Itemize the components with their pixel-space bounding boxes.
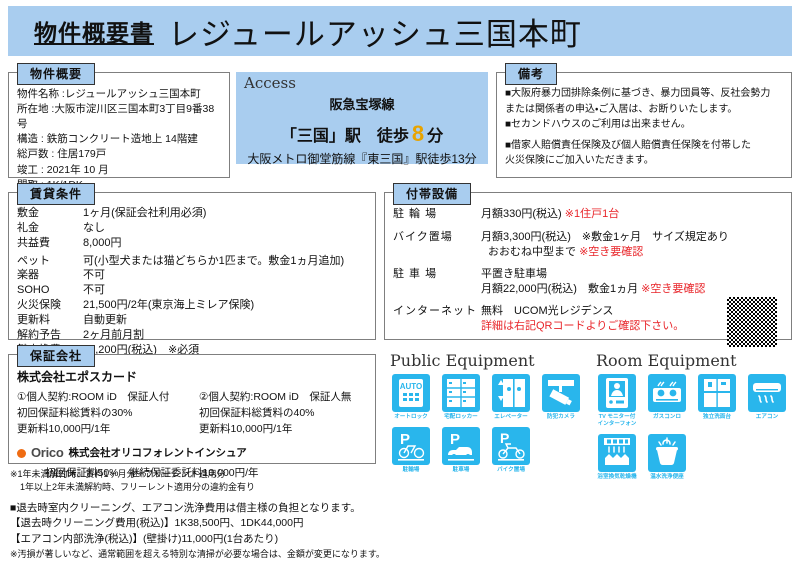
equipment-label: 防犯カメラ	[540, 414, 582, 421]
delivery-locker-icon	[442, 374, 480, 412]
public-equipment-grid: AUTO オートロック 宅配ロッカー エレベーター 防	[390, 374, 590, 474]
overview-line: 竣工 : 2021年 10 月	[17, 163, 221, 178]
terms-value: 21,500円/2年(東京海上ミレア保険)	[83, 298, 367, 313]
facility-row-bike: バイク置場 月額3,300円(税込) ※敷金1ヶ月 サイズ規定あり おおむね中型…	[393, 230, 783, 260]
equipment-item: 防犯カメラ	[540, 374, 582, 421]
equipment-label: TV モニター付インターフォン	[596, 414, 638, 428]
terms-value: 可(小型犬または猫どちらか1匹まで。敷金1ヵ月追加)	[83, 254, 367, 269]
rental-terms-panel: 賃貸条件 敷金1ヶ月(保証会社利用必須) 礼金なし 共益費8,000円 ペット可…	[8, 192, 376, 340]
equipment-label: エアコン	[746, 414, 788, 421]
terms-body: 敷金1ヶ月(保証会社利用必須) 礼金なし 共益費8,000円 ペット可(小型犬ま…	[9, 193, 375, 361]
facility-extra: おおむね中型まで ※空き要確認	[481, 245, 783, 260]
terms-value: 不可	[83, 268, 367, 283]
terms-row: 火災保険21,500円/2年(東京海上ミレア保険)	[17, 298, 367, 313]
terms-tab-label: 賃貸条件	[17, 183, 95, 205]
property-summary-sheet: 物件概要書 レジュールアッシュ三国本町 物件概要 物件名称 :レジュールアッシュ…	[0, 6, 800, 556]
equipment-item: エレベーター	[490, 374, 532, 421]
terms-key: ペット	[17, 254, 83, 269]
remark-line: 火災保険にご加入いただきます。	[505, 154, 783, 169]
facility-key: バイク置場	[393, 230, 481, 260]
terms-value: 1ヶ月(保証会社利用必須)	[83, 206, 367, 221]
facility-price: 月額22,000円(税込) 敷金1ヵ月	[481, 283, 638, 295]
air-conditioner-icon	[748, 374, 786, 412]
equipment-label: 独立洗面台	[696, 414, 738, 421]
terms-value: 8,000円	[83, 236, 367, 251]
guarantor-body: 株式会社エポスカード ①個人契約:ROOM iD 保証人付 初回保証料総賃料の3…	[9, 355, 375, 485]
equipment-label: 温水洗浄便座	[646, 474, 688, 481]
equipment-item: P 駐輪場	[390, 427, 432, 474]
facility-row-parking: 駐 車 場 平置き駐車場 月額22,000円(税込) 敷金1ヵ月 ※空き要確認	[393, 267, 783, 297]
guarantor-plans: ①個人契約:ROOM iD 保証人付 初回保証料総賃料の30% 更新料10,00…	[17, 390, 367, 437]
equipment-label: ガスコンロ	[646, 414, 688, 421]
access-minutes: 8	[409, 121, 427, 146]
facility-note: ※1住戸1台	[565, 208, 619, 220]
facility-value: 月額3,300円(税込) ※敷金1ヶ月 サイズ規定あり おおむね中型まで ※空き…	[481, 230, 783, 260]
terms-row: 解約予告2ヶ月前月割	[17, 328, 367, 343]
terms-value: なし	[83, 221, 367, 236]
facility-note: ※空き要確認	[641, 283, 705, 295]
facility-size-note: おおむね中型まで	[488, 246, 576, 258]
room-equipment-section: Room Equipment TV モニター付インターフォン ガスコンロ 独立洗…	[596, 351, 796, 481]
property-overview-panel: 物件概要 物件名称 :レジュールアッシュ三国本町 所在地 :大阪市淀川区三国本町…	[8, 72, 230, 178]
access-secondary-line: 大阪メトロ御堂筋線『東三国』駅徒歩13分	[236, 150, 488, 167]
access-minutes-unit: 分	[427, 128, 443, 145]
property-name-title: レジュールアッシュ三国本町	[168, 9, 582, 54]
cleaning-note-heading: ■退去時室内クリーニング、エアコン洗浄費用は借主様の負担となります。	[10, 501, 430, 517]
facility-price: 月額3,300円(税込) ※敷金1ヶ月 サイズ規定あり	[481, 231, 729, 243]
remarks-body: ■大阪府暴力団排除条例に基づき、暴力団員等、反社会勢力 または関係者の申込・ご入…	[497, 73, 791, 174]
tv-intercom-icon	[598, 374, 636, 412]
facility-type: 平置き駐車場	[481, 268, 547, 280]
terms-key: 敷金	[17, 206, 83, 221]
cancellation-note-1: ※1年未満解約時、賃料1ヶ月分＋フリーレント適用分	[10, 468, 430, 481]
facility-provider: 無料 UCOM光レジデンス	[481, 305, 613, 317]
gas-stove-icon	[648, 374, 686, 412]
cancellation-note-2: 1年以上2年未満解約時、フリーレント適用分の違約金有り	[10, 481, 430, 494]
terms-row: 共益費8,000円	[17, 236, 367, 251]
equipment-item: TV モニター付インターフォン	[596, 374, 638, 428]
terms-row: ペット可(小型犬または猫どちらか1匹まで。敷金1ヵ月追加)	[17, 254, 367, 269]
plan-line: ①個人契約:ROOM iD 保証人付	[17, 390, 185, 406]
facility-value: 平置き駐車場 月額22,000円(税込) 敷金1ヵ月 ※空き要確認	[481, 267, 783, 297]
terms-key: 礼金	[17, 221, 83, 236]
terms-key: 解約予告	[17, 328, 83, 343]
overview-line: 物件名称 :レジュールアッシュ三国本町	[17, 87, 221, 102]
equipment-item: ガスコンロ	[646, 374, 688, 428]
access-label: Access	[244, 74, 296, 92]
overview-line: 所在地 :大阪市淀川区三国本町3丁目9番38号	[17, 102, 221, 132]
equipment-label: エレベーター	[490, 414, 532, 421]
terms-key: 更新料	[17, 313, 83, 328]
remark-line: ■借家人賠償責任保険及び個人賠償責任保険を付帯した	[505, 139, 783, 154]
guarantor-tab-label: 保証会社	[17, 345, 95, 367]
room-equipment-grid: TV モニター付インターフォン ガスコンロ 独立洗面台 エアコン	[596, 374, 796, 481]
facility-note: ※空き要確認	[579, 246, 643, 258]
equipment-item: P バイク置場	[490, 427, 532, 474]
equipment-label: 浴室換気乾燥機	[596, 474, 638, 481]
washstand-icon	[698, 374, 736, 412]
svg-text:AUTO: AUTO	[400, 382, 423, 391]
bike-parking-icon: P	[492, 427, 530, 465]
terms-key: 共益費	[17, 236, 83, 251]
terms-row: 楽器不可	[17, 268, 367, 283]
remarks-tab-label: 備考	[505, 63, 557, 85]
public-equipment-section: Public Equipment AUTO オートロック 宅配ロッカー エレベー…	[390, 351, 590, 474]
bottom-notes: ※1年未満解約時、賃料1ヶ月分＋フリーレント適用分 1年以上2年未満解約時、フリ…	[10, 468, 430, 562]
equipment-item: 温水洗浄便座	[646, 434, 688, 481]
remarks-panel: 備考 ■大阪府暴力団排除条例に基づき、暴力団員等、反社会勢力 または関係者の申込…	[496, 72, 792, 178]
bicycle-parking-icon: P	[392, 427, 430, 465]
equipment-label: オートロック	[390, 414, 432, 421]
equipment-item: 宅配ロッカー	[440, 374, 482, 421]
washlet-icon	[648, 434, 686, 472]
access-walk-row: 「三国」駅 徒歩8分	[236, 121, 488, 147]
orico-company-name: 株式会社オリコフォレントインシュア	[68, 446, 246, 461]
facilities-panel: 付帯設備 駐 輪 場 月額330円(税込) ※1住戸1台 バイク置場 月額3,3…	[384, 192, 792, 340]
terms-value: 2ヶ月前月割	[83, 328, 367, 343]
facility-price: 月額330円(税込)	[481, 208, 562, 220]
plan-line: ②個人契約:ROOM iD 保証人無	[199, 390, 367, 406]
orico-dot-icon	[17, 449, 26, 458]
aircon-fee-line: 【エアコン内部洗浄(税込)】(壁掛け)11,000円(1台あたり)	[10, 532, 430, 548]
orico-logo-row: Orico 株式会社オリコフォレントインシュア	[17, 444, 367, 462]
qr-code[interactable]	[727, 297, 777, 347]
terms-key: 火災保険	[17, 298, 83, 313]
access-station: 「三国」駅 徒歩	[281, 128, 409, 145]
facility-row-internet: インターネット 無料 UCOM光レジデンス 詳細は右記QRコードよりご確認下さい…	[393, 304, 783, 334]
plan-line: 更新料10,000円/1年	[17, 422, 185, 438]
overview-tab-label: 物件概要	[17, 63, 95, 85]
facility-key: 駐 車 場	[393, 267, 481, 297]
equipment-item: AUTO オートロック	[390, 374, 432, 421]
overview-body: 物件名称 :レジュールアッシュ三国本町 所在地 :大阪市淀川区三国本町3丁目9番…	[9, 73, 229, 197]
facility-row-bicycle: 駐 輪 場 月額330円(税込) ※1住戸1台	[393, 207, 783, 223]
cleaning-tail-note: ※汚損が著しいなど、通常範囲を超える特別な清掃が必要な場合は、金額が変更になりま…	[10, 548, 430, 561]
facility-key: インターネット	[393, 304, 481, 334]
overview-line: 構造 : 鉄筋コンクリート造地上 14階建	[17, 132, 221, 147]
room-equipment-title: Room Equipment	[596, 351, 796, 370]
auto-lock-icon: AUTO	[392, 374, 430, 412]
guarantor-company-name: 株式会社エポスカード	[17, 369, 367, 386]
terms-row: SOHO不可	[17, 283, 367, 298]
equipment-item: P 駐車場	[440, 427, 482, 474]
guarantor-panel: 保証会社 株式会社エポスカード ①個人契約:ROOM iD 保証人付 初回保証料…	[8, 354, 376, 464]
equipment-label: バイク置場	[490, 467, 532, 474]
remark-line: ■大阪府暴力団排除条例に基づき、暴力団員等、反社会勢力	[505, 87, 783, 102]
elevator-icon	[492, 374, 530, 412]
overview-line: 総戸数 : 住居179戸	[17, 147, 221, 162]
equipment-item: エアコン	[746, 374, 788, 428]
security-camera-icon	[542, 374, 580, 412]
terms-key: SOHO	[17, 283, 83, 298]
facility-value: 月額330円(税込) ※1住戸1台	[481, 207, 783, 223]
terms-row: 礼金なし	[17, 221, 367, 236]
public-equipment-title: Public Equipment	[390, 351, 590, 370]
guarantor-plan-a: ①個人契約:ROOM iD 保証人付 初回保証料総賃料の30% 更新料10,00…	[17, 390, 185, 437]
access-panel: Access 阪急宝塚線 「三国」駅 徒歩8分 大阪メトロ御堂筋線『東三国』駅徒…	[236, 72, 488, 164]
terms-row: 敷金1ヶ月(保証会社利用必須)	[17, 206, 367, 221]
equipment-label: 宅配ロッカー	[440, 414, 482, 421]
remark-line: または関係者の申込・ご入居は、お断りいたします。	[505, 103, 783, 118]
terms-row: 更新料自動更新	[17, 313, 367, 328]
remark-line: ■セカンドハウスのご利用は出来ません。	[505, 118, 783, 133]
svg-text:P: P	[450, 431, 460, 448]
equipment-item: 独立洗面台	[696, 374, 738, 428]
terms-value: 不可	[83, 283, 367, 298]
guarantor-plan-b: ②個人契約:ROOM iD 保証人無 初回保証料総賃料の40% 更新料10,00…	[199, 390, 367, 437]
facility-extra: 月額22,000円(税込) 敷金1ヵ月 ※空き要確認	[481, 282, 783, 297]
plan-line: 初回保証料総賃料の40%	[199, 406, 367, 422]
bathroom-dryer-icon	[598, 434, 636, 472]
terms-key: 楽器	[17, 268, 83, 283]
terms-value: 自動更新	[83, 313, 367, 328]
car-parking-icon: P	[442, 427, 480, 465]
facilities-body: 駐 輪 場 月額330円(税込) ※1住戸1台 バイク置場 月額3,300円(税…	[385, 193, 791, 346]
equipment-label: 駐車場	[440, 467, 482, 474]
facility-key: 駐 輪 場	[393, 207, 481, 223]
document-type-label: 物件概要書	[34, 14, 154, 48]
plan-line: 更新料10,000円/1年	[199, 422, 367, 438]
document-header: 物件概要書 レジュールアッシュ三国本町	[8, 6, 792, 56]
equipment-item: 浴室換気乾燥機	[596, 434, 638, 481]
cleaning-fee-line: 【退去時クリーニング費用(税込)】1K38,500円、1DK44,000円	[10, 516, 430, 532]
plan-line: 初回保証料総賃料の30%	[17, 406, 185, 422]
orico-wordmark: Orico	[31, 444, 63, 462]
